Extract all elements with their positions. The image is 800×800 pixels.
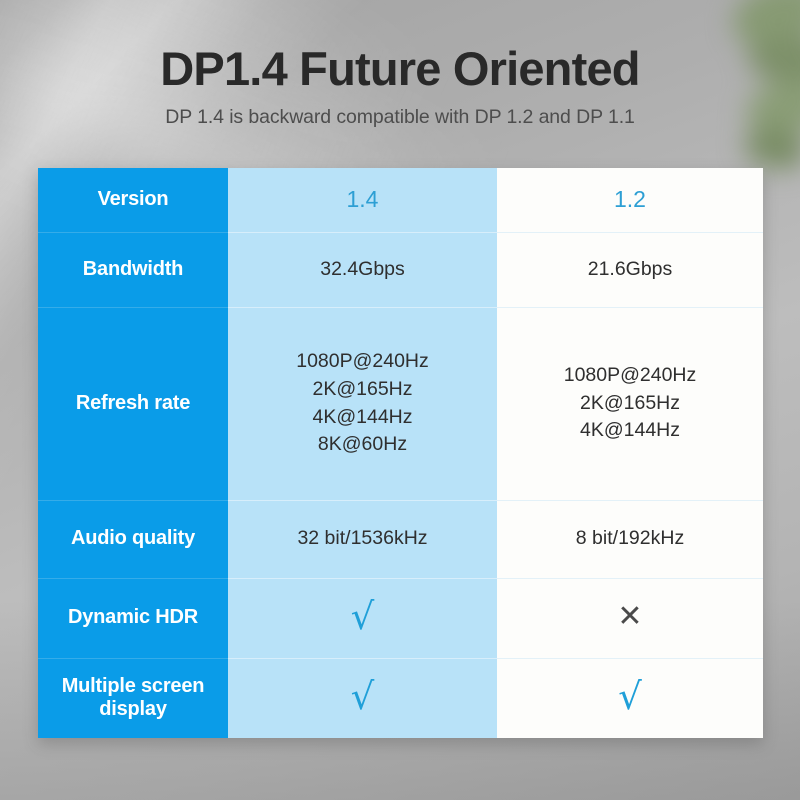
row-label-multiple-screen-display: Multiple screen display [38, 658, 228, 738]
header-block: DP1.4 Future Oriented DP 1.4 is backward… [0, 44, 800, 129]
cell-bandwidth-dp12: 21.6Gbps [497, 232, 763, 307]
cell-audio-quality-dp12: 8 bit/192kHz [497, 500, 763, 578]
row-label-dynamic-hdr: Dynamic HDR [38, 578, 228, 658]
cell-bandwidth-dp14: 32.4Gbps [228, 232, 497, 307]
checkmark-icon: √ [351, 598, 375, 635]
page-title: DP1.4 Future Oriented [0, 44, 800, 93]
row-label-bandwidth: Bandwidth [38, 232, 228, 307]
row-label-version: Version [38, 168, 228, 232]
cell-refresh-rate-dp14: 1080P@240Hz 2K@165Hz 4K@144Hz 8K@60Hz [228, 307, 497, 500]
table-row-bandwidth: Bandwidth 32.4Gbps 21.6Gbps [38, 232, 763, 307]
cell-audio-quality-dp14: 32 bit/1536kHz [228, 500, 497, 578]
cell-refresh-rate-dp12: 1080P@240Hz 2K@165Hz 4K@144Hz [497, 307, 763, 500]
table-row-dynamic-hdr: Dynamic HDR √ ✕ [38, 578, 763, 658]
cross-icon: ✕ [617, 602, 642, 632]
dp-version-comparison-table: Version 1.4 1.2 Bandwidth 32.4Gbps 21.6G… [38, 168, 763, 738]
table-row-multiple-screen-display: Multiple screen display √ √ [38, 658, 763, 738]
row-label-refresh-rate: Refresh rate [38, 307, 228, 500]
table-row-audio-quality: Audio quality 32 bit/1536kHz 8 bit/192kH… [38, 500, 763, 578]
cell-version-dp14: 1.4 [228, 168, 497, 232]
page-subtitle: DP 1.4 is backward compatible with DP 1.… [0, 106, 800, 129]
table-row-version: Version 1.4 1.2 [38, 168, 763, 232]
cell-multiple-screen-display-dp14: √ [228, 658, 497, 738]
cell-dynamic-hdr-dp12: ✕ [497, 578, 763, 658]
cell-version-dp12: 1.2 [497, 168, 763, 232]
table-row-refresh-rate: Refresh rate 1080P@240Hz 2K@165Hz 4K@144… [38, 307, 763, 500]
cell-dynamic-hdr-dp14: √ [228, 578, 497, 658]
checkmark-icon: √ [351, 678, 375, 715]
checkmark-icon: √ [618, 678, 642, 715]
row-label-audio-quality: Audio quality [38, 500, 228, 578]
cell-multiple-screen-display-dp12: √ [497, 658, 763, 738]
